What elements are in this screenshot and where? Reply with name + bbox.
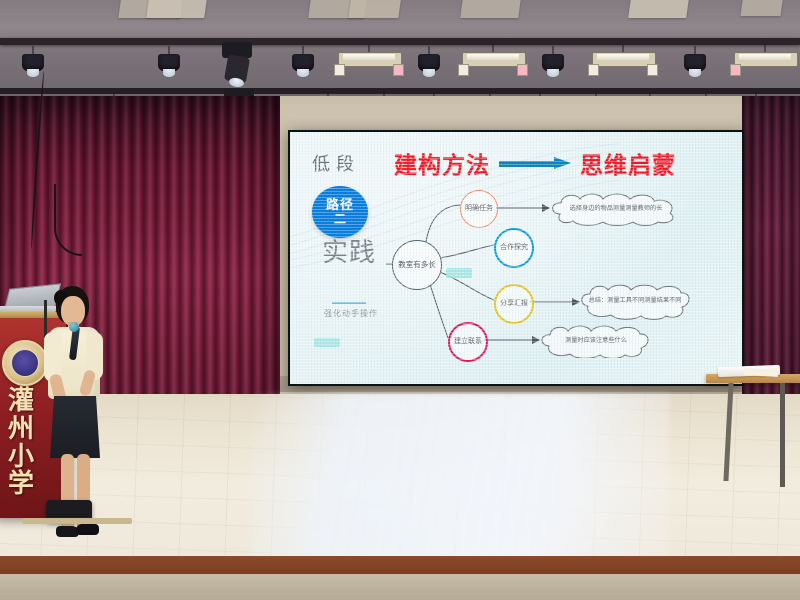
slide-headline: 建构方法 思维启蒙: [394, 146, 734, 180]
mindmap-cloud-share: 总结：测量工具不同测量结果不同: [578, 282, 692, 320]
slide-section-label: 低段: [312, 150, 360, 176]
path-badge-line1: 路径: [326, 199, 354, 213]
mindmap: 教室有多长 明确任务 合作探究 分享汇报 建立联系: [386, 188, 738, 378]
mindmap-node-label: 建立联系: [452, 338, 484, 346]
floor-light-reflection: [250, 394, 670, 570]
headline-right: 思维启蒙: [580, 146, 676, 180]
path-badge: 路径 二: [312, 186, 368, 238]
fresnel-light: [338, 44, 400, 76]
presenter-skirt: [50, 396, 100, 458]
mindmap-cloud-text: 总结：测量工具不同测量结果不同: [579, 297, 692, 305]
mindmap-node-task: 明确任务: [460, 190, 498, 228]
title-divider: [332, 302, 366, 304]
fresnel-light: [462, 44, 524, 76]
ceiling-panel: [460, 0, 522, 18]
slide-highlight-chip: [446, 268, 472, 278]
path-badge-line2: 二: [334, 213, 346, 225]
presenter-shoe-right: [76, 524, 99, 535]
mindmap-cloud-connect: 测量时应该注意些什么: [538, 324, 654, 358]
auditorium-floor: [0, 574, 800, 600]
mindmap-center-label: 教室有多长: [396, 261, 438, 269]
ceiling-panel: [146, 0, 208, 18]
mindmap-cloud-text: 测量时应该注意些什么: [555, 337, 637, 345]
arrow-right-icon: [499, 158, 571, 169]
mindmap-node-share: 分享汇报: [494, 284, 534, 324]
table-leg: [780, 383, 785, 487]
practice-title: 实践: [318, 240, 380, 267]
slide-surface: 低段 路径 二 实践 强化动手操作 建构方法 思维启蒙: [290, 132, 742, 384]
screenshot-root: 低段 路径 二 实践 强化动手操作 建构方法 思维启蒙: [0, 0, 800, 600]
ceiling-panel: [740, 0, 783, 16]
ceiling: [0, 0, 800, 96]
mindmap-node-cooperation: 合作探究: [494, 228, 534, 268]
stage-edge: [0, 556, 800, 576]
ceiling-panel: [348, 0, 401, 18]
mindmap-node-label: 合作探究: [498, 244, 530, 252]
microphone-head: [69, 322, 79, 332]
moving-head-light: [222, 42, 252, 88]
mindmap-center-node: 教室有多长: [392, 240, 442, 290]
mindmap-node-label: 明确任务: [463, 205, 495, 213]
slide-highlight-chip-lower: [314, 338, 340, 347]
ceiling-panel: [628, 0, 690, 18]
podium-base-rail: [22, 518, 132, 524]
mindmap-cloud-task: 选择身边的物品测量测量教师的长: [548, 192, 684, 226]
fresnel-light: [592, 44, 654, 76]
fresnel-light: [734, 44, 796, 76]
lighting-truss-back: [0, 38, 800, 45]
podium-banner-text: 灌州小学: [0, 388, 42, 499]
mindmap-node-connect: 建立联系: [448, 322, 488, 362]
projection-screen: 低段 路径 二 实践 强化动手操作 建构方法 思维启蒙: [288, 130, 744, 386]
mindmap-node-label: 分享汇报: [498, 300, 530, 308]
mindmap-cloud-text: 选择身边的物品测量测量教师的长: [560, 205, 673, 213]
headline-left: 建构方法: [394, 146, 490, 180]
